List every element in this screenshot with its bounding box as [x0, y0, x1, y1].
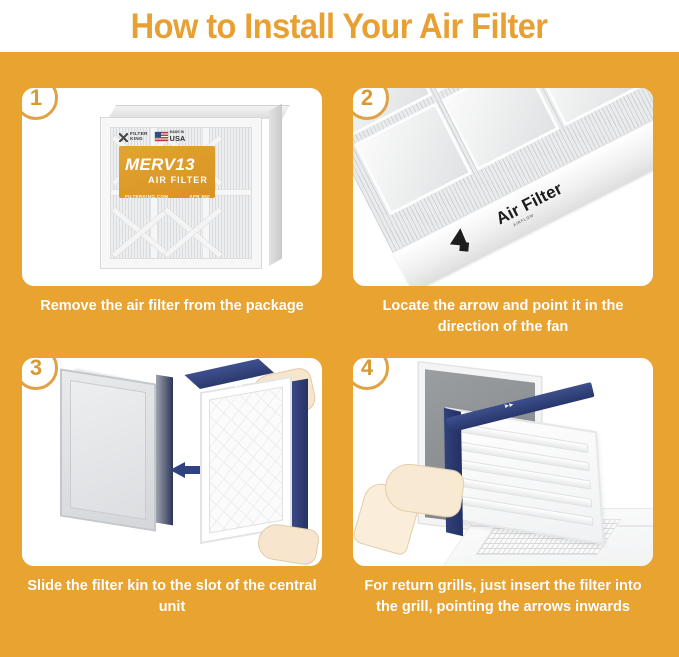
step-2-caption: Locate the arrow and point it in the dir… — [353, 296, 653, 337]
unit-slot-opening — [156, 375, 173, 526]
page-title: How to Install Your Air Filter — [131, 9, 548, 44]
unit-front-face — [60, 368, 156, 531]
origin-big: USA — [170, 134, 186, 143]
crown-icon — [119, 133, 128, 142]
step-3: ▸▸ 3 Slide the filter kin to the slot of… — [22, 358, 322, 617]
filter-mesh — [209, 386, 283, 533]
filter-side-frame — [292, 379, 308, 534]
us-flag-icon — [155, 132, 168, 141]
website-text: FILTERKING.COM — [125, 194, 168, 199]
airflow-arrow-tail — [459, 242, 469, 252]
central-unit — [60, 366, 172, 526]
step-4-caption: For return grills, just insert the filte… — [353, 576, 653, 617]
step-1: FILTER KING MADE IN USA — [22, 88, 322, 317]
air-filter-product: FILTER KING MADE IN USA — [100, 105, 282, 273]
filter-rating-label: MERV13 AIR FILTER FILTERKING.COM APR 850 — [119, 146, 215, 198]
hand-lower — [256, 522, 321, 566]
merv-rating: MERV13 — [125, 156, 210, 174]
step-2: Air Filter AIRFLOW 2 Locate the arrow an… — [353, 88, 653, 337]
step-3-caption: Slide the filter kin to the slot of the … — [22, 576, 322, 617]
filter-front-face: FILTER KING MADE IN USA — [100, 117, 262, 269]
arrow-head — [170, 462, 185, 478]
product-type: AIR FILTER — [125, 175, 210, 185]
step-2-panel: Air Filter AIRFLOW 2 — [353, 88, 653, 286]
label-footer: FILTERKING.COM APR 850 — [125, 194, 210, 199]
filter-front — [200, 376, 292, 544]
new-filter: ▸▸ — [200, 370, 308, 538]
title-bar: How to Install Your Air Filter — [0, 0, 679, 52]
made-in-usa-badge: MADE IN USA — [155, 131, 186, 144]
step-4-panel: ▸▸ 4 — [353, 358, 653, 566]
brand-name: FILTER KING — [130, 132, 148, 143]
return-grill-insert-diagram: ▸▸ — [353, 358, 653, 566]
filter-side-edge — [269, 103, 282, 266]
filter-cell — [445, 88, 555, 167]
step-1-caption: Remove the air filter from the package — [22, 296, 322, 317]
brand-line-2: KING — [130, 137, 148, 142]
step-3-panel: ▸▸ 3 — [22, 358, 322, 566]
filter-body-angled: Air Filter AIRFLOW — [353, 88, 653, 286]
filter-king-logo: FILTER KING — [119, 132, 148, 143]
filter-cell — [358, 106, 468, 211]
infographic-page: How to Install Your Air Filter — [0, 0, 679, 657]
origin-text: MADE IN USA — [170, 131, 186, 144]
apr-rating: APR 850 — [189, 194, 210, 199]
orange-background: FILTER KING MADE IN USA — [0, 52, 679, 657]
slide-filter-into-unit-diagram: ▸▸ — [22, 358, 322, 566]
step-4: ▸▸ 4 For return grills, just insert the … — [353, 358, 653, 617]
filter-edge-arrow-closeup: Air Filter AIRFLOW — [353, 88, 653, 286]
step-1-panel: FILTER KING MADE IN USA — [22, 88, 322, 286]
unit-inner-panel — [70, 380, 146, 520]
filter-brand-row: FILTER KING MADE IN USA — [119, 130, 229, 144]
air-filter-product-photo: FILTER KING MADE IN USA — [22, 88, 322, 286]
